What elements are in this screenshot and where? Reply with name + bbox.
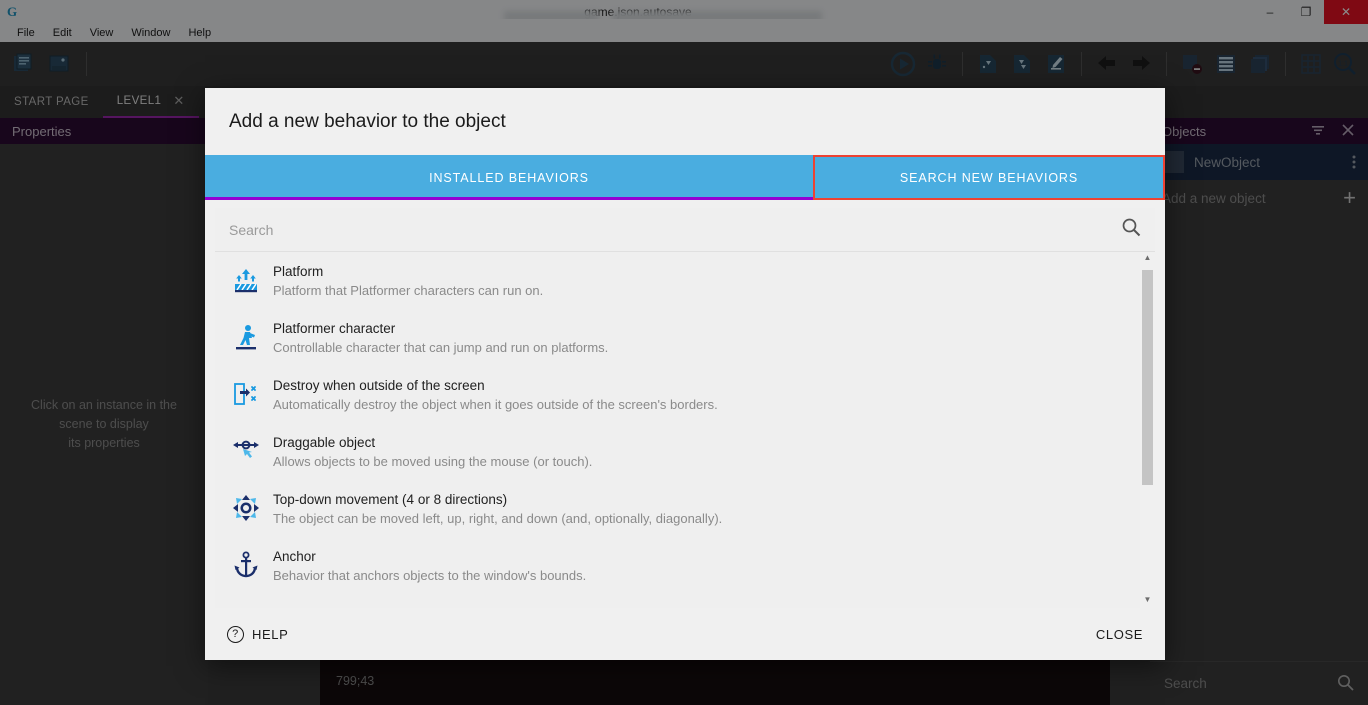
close-dialog-button[interactable]: CLOSE xyxy=(1096,627,1143,642)
add-behavior-dialog: Add a new behavior to the object INSTALL… xyxy=(205,88,1165,660)
tab-installed-behaviors[interactable]: INSTALLED BEHAVIORS xyxy=(205,155,813,200)
behavior-name: Platformer character xyxy=(273,321,1141,336)
behavior-search-input[interactable] xyxy=(229,222,1121,238)
behavior-description: The object can be moved left, up, right,… xyxy=(273,511,1141,526)
scrollbar-thumb[interactable] xyxy=(1142,270,1153,485)
behavior-text: Draggable object Allows objects to be mo… xyxy=(273,434,1141,469)
behavior-list-item[interactable]: Draggable object Allows objects to be mo… xyxy=(215,423,1155,480)
behavior-list-item[interactable]: Destroy when outside of the screen Autom… xyxy=(215,366,1155,423)
destroy-outside-screen-icon xyxy=(229,377,263,411)
behavior-description: Allows objects to be moved using the mou… xyxy=(273,454,1141,469)
tab-label: SEARCH NEW BEHAVIORS xyxy=(900,171,1078,185)
behavior-list-item[interactable]: Platform Platform that Platformer charac… xyxy=(215,252,1155,309)
behavior-list-item[interactable]: Top-down movement (4 or 8 directions) Th… xyxy=(215,480,1155,537)
behavior-list-item[interactable]: Anchor Behavior that anchors objects to … xyxy=(215,537,1155,594)
behavior-text: Top-down movement (4 or 8 directions) Th… xyxy=(273,491,1141,526)
behavior-list-item[interactable]: Platformer character Controllable charac… xyxy=(215,309,1155,366)
behavior-text: Anchor Behavior that anchors objects to … xyxy=(273,548,1141,583)
behavior-name: Draggable object xyxy=(273,435,1141,450)
behavior-description: Automatically destroy the object when it… xyxy=(273,397,1141,412)
behavior-text: Platformer character Controllable charac… xyxy=(273,320,1141,355)
behavior-text: Destroy when outside of the screen Autom… xyxy=(273,377,1141,412)
platform-icon xyxy=(229,263,263,297)
dialog-title: Add a new behavior to the object xyxy=(205,88,1165,155)
scrollbar-track[interactable] xyxy=(1140,266,1155,594)
top-down-movement-icon xyxy=(229,491,263,525)
behavior-name: Platform xyxy=(273,264,1141,279)
behavior-description: Behavior that anchors objects to the win… xyxy=(273,568,1141,583)
behavior-description: Platform that Platformer characters can … xyxy=(273,283,1141,298)
help-label: HELP xyxy=(252,627,288,642)
scroll-up-arrow-icon[interactable]: ▲ xyxy=(1144,252,1152,266)
help-button[interactable]: ? HELP xyxy=(227,626,288,643)
behavior-name: Top-down movement (4 or 8 directions) xyxy=(273,492,1141,507)
behavior-description: Controllable character that can jump and… xyxy=(273,340,1141,355)
question-mark-icon: ? xyxy=(227,626,244,643)
behavior-name: Anchor xyxy=(273,549,1141,564)
behaviors-list-scrollbar[interactable]: ▲ ▼ xyxy=(1140,252,1155,608)
tab-label: INSTALLED BEHAVIORS xyxy=(429,171,589,185)
search-icon[interactable] xyxy=(1121,217,1141,242)
behavior-text: Platform Platform that Platformer charac… xyxy=(273,263,1141,298)
behavior-name: Destroy when outside of the screen xyxy=(273,378,1141,393)
behaviors-list[interactable]: Platform Platform that Platformer charac… xyxy=(215,252,1155,608)
behavior-search-field[interactable] xyxy=(215,208,1155,252)
gdevelop-window: G game.json.autosave – ❐ ✕ File Edit Vie… xyxy=(0,0,1368,705)
dialog-footer: ? HELP CLOSE xyxy=(205,608,1165,660)
draggable-object-icon xyxy=(229,434,263,468)
dialog-tab-bar: INSTALLED BEHAVIORS SEARCH NEW BEHAVIORS xyxy=(205,155,1165,200)
scroll-down-arrow-icon[interactable]: ▼ xyxy=(1144,594,1152,608)
platformer-character-icon xyxy=(229,320,263,354)
tab-search-new-behaviors[interactable]: SEARCH NEW BEHAVIORS xyxy=(813,155,1165,200)
anchor-icon xyxy=(229,548,263,582)
